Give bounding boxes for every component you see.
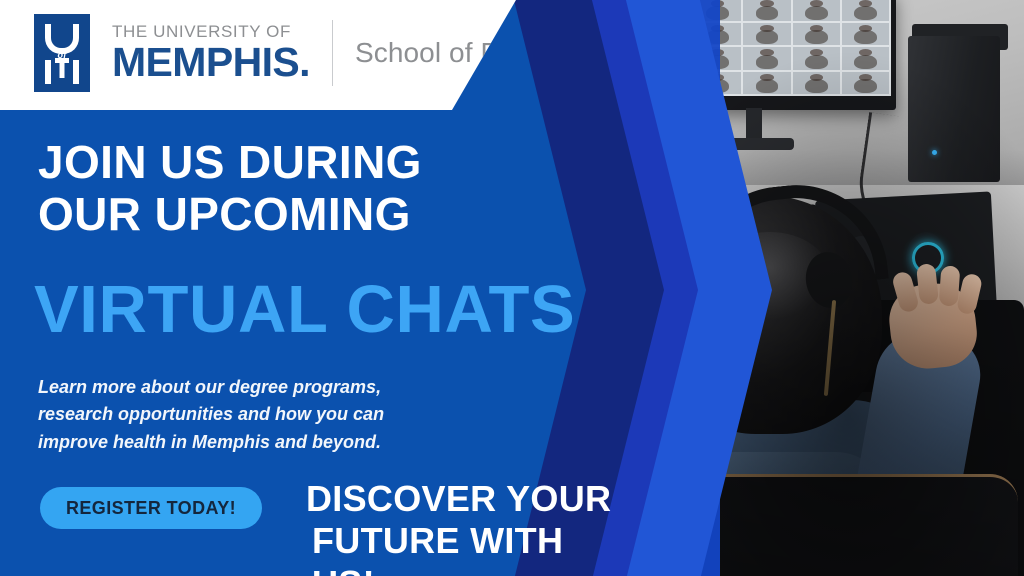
logo-letter-m <box>45 60 79 84</box>
wordmark-top-line: THE UNIVERSITY OF <box>112 23 310 40</box>
register-today-button[interactable]: REGISTER TODAY! <box>40 487 262 529</box>
headline-line-1: Join Us During <box>38 136 422 188</box>
body-line-2: research opportunities and how you can <box>38 401 438 428</box>
headline: Join Us During Our Upcoming <box>38 136 468 241</box>
body-line-3: improve health in Memphis and beyond. <box>38 429 438 456</box>
promo-graphic: of THE UNIVERSITY OF MEMPHIS. School of … <box>0 0 1024 576</box>
tagline-line-2: Future With Us! <box>306 520 636 576</box>
header-divider <box>332 20 333 86</box>
um-logo-mark-icon: of <box>34 14 90 92</box>
feature-headline: VIRTUAL CHATS <box>34 276 575 343</box>
university-wordmark: THE UNIVERSITY OF MEMPHIS. <box>112 23 310 83</box>
tagline-line-1: Discover Your <box>306 478 636 520</box>
wordmark-memphis: MEMPHIS <box>112 39 299 85</box>
tagline: Discover Your Future With Us! <box>306 478 636 576</box>
wordmark-bottom-line: MEMPHIS. <box>112 42 310 83</box>
wordmark-period: . <box>299 39 310 85</box>
body-copy: Learn more about our degree programs, re… <box>38 374 438 456</box>
headline-line-2: Our Upcoming <box>38 188 468 240</box>
body-line-1: Learn more about our degree programs, <box>38 374 438 401</box>
